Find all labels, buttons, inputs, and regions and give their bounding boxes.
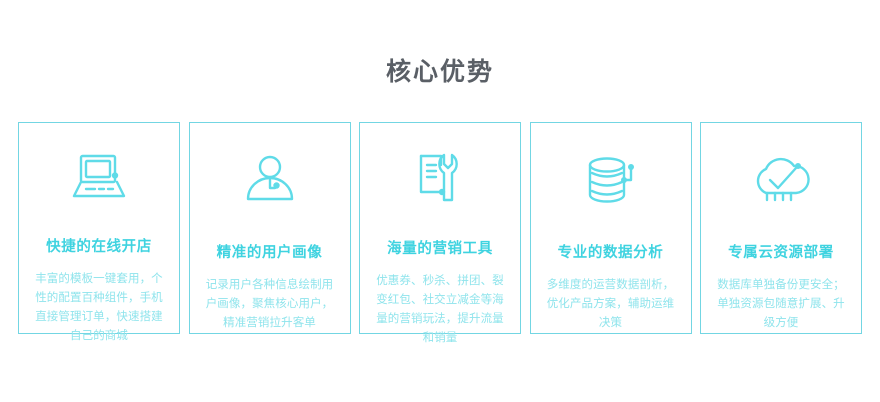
cloud-check-icon <box>749 151 813 209</box>
document-wrench-icon <box>408 151 472 205</box>
advantage-card-description: 数据库单独备份更安全；单独资源包随意扩展、升级方便 <box>701 275 861 332</box>
advantage-card-list: 快捷的在线开店 丰富的模板一键套用，个性的配置百种组件，手机直接管理订单，快速搭… <box>0 122 880 334</box>
advantage-card-online-store[interactable]: 快捷的在线开店 丰富的模板一键套用，个性的配置百种组件，手机直接管理订单，快速搭… <box>18 122 180 334</box>
database-icon <box>579 151 643 209</box>
advantage-card-title: 海量的营销工具 <box>387 239 493 259</box>
advantage-card-marketing-tools[interactable]: 海量的营销工具 优惠券、秒杀、拼团、裂变红包、社交立减金等海量的营销玩法，提升流… <box>359 122 521 334</box>
advantage-card-title: 专业的数据分析 <box>558 243 664 263</box>
laptop-icon <box>67 151 131 203</box>
advantage-card-description: 多维度的运营数据剖析，优化产品方案，辅助运维决策 <box>531 275 691 332</box>
advantage-card-user-profile[interactable]: 精准的用户画像 记录用户各种信息绘制用户画像，聚焦核心用户，精准营销拉升客单 <box>189 122 351 334</box>
advantage-card-title: 精准的用户画像 <box>217 243 323 263</box>
advantage-card-title: 专属云资源部署 <box>728 243 834 263</box>
advantage-card-description: 优惠券、秒杀、拼团、裂变红包、社交立减金等海量的营销玩法，提升流量和销量 <box>360 271 520 347</box>
core-advantages-section: 核心优势 快捷的在线开店 丰富的模板一键套用，个性的配置百种组件，手机直接管理订… <box>0 0 880 402</box>
advantage-card-title: 快捷的在线开店 <box>46 237 152 257</box>
advantage-card-data-analysis[interactable]: 专业的数据分析 多维度的运营数据剖析，优化产品方案，辅助运维决策 <box>530 122 692 334</box>
advantage-card-cloud-deploy[interactable]: 专属云资源部署 数据库单独备份更安全；单独资源包随意扩展、升级方便 <box>700 122 862 334</box>
advantage-card-description: 记录用户各种信息绘制用户画像，聚焦核心用户，精准营销拉升客单 <box>190 275 350 332</box>
page-title: 核心优势 <box>0 0 880 89</box>
user-profile-icon <box>238 151 302 209</box>
advantage-card-description: 丰富的模板一键套用，个性的配置百种组件，手机直接管理订单，快速搭建自己的商城 <box>19 269 179 345</box>
